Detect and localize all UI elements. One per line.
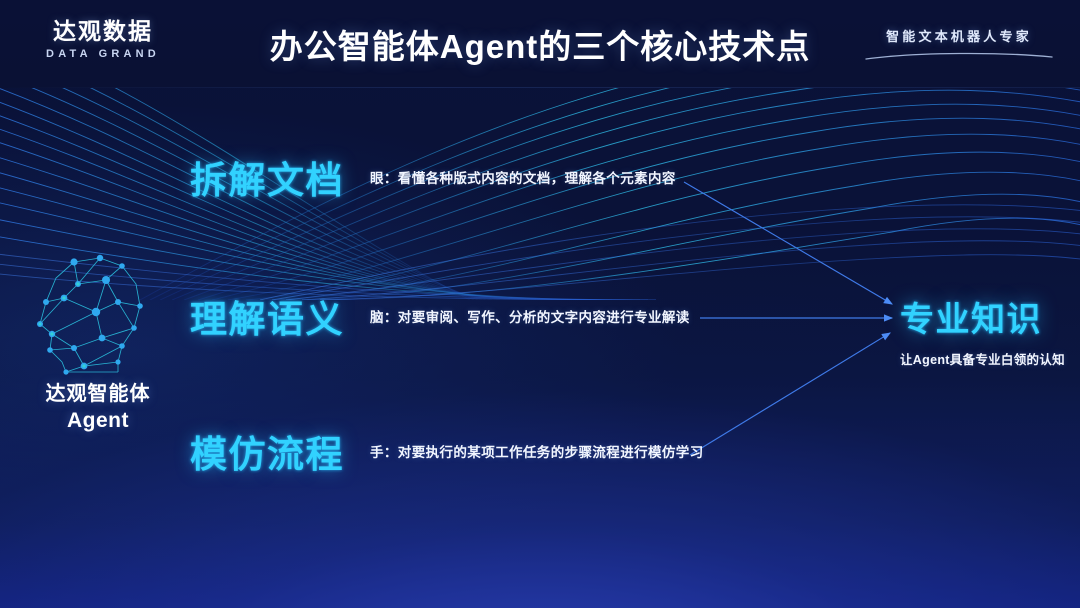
agent-figure: 达观智能体 Agent: [18, 250, 178, 434]
slide-header: 达观数据 DATA GRAND 办公智能体Agent的三个核心技术点 智能文本机…: [0, 0, 1080, 88]
capability-title-1: 拆解文档: [190, 150, 344, 204]
slide-canvas: 达观数据 DATA GRAND 办公智能体Agent的三个核心技术点 智能文本机…: [0, 0, 1080, 608]
capability-row-3: 模仿流程 手：对要执行的某项工作任务的步骤流程进行模仿学习: [190, 424, 704, 478]
capability-title-3: 模仿流程: [190, 424, 344, 478]
agent-label-en: Agent: [18, 408, 178, 435]
agent-label-cn: 达观智能体: [46, 383, 151, 405]
capability-row-1: 拆解文档 眼：看懂各种版式内容的文档，理解各个元素内容: [190, 150, 676, 204]
outcome-node: 专业知识 让Agent具备专业白领的认知: [900, 292, 1080, 368]
arrow-row-3: [690, 333, 890, 455]
brand-tagline: 智能文本机器人专家: [862, 26, 1056, 45]
agent-label: 达观智能体 Agent: [18, 382, 178, 434]
arrow-row-1: [684, 182, 892, 304]
brand-tagline-block: 智能文本机器人专家: [862, 26, 1056, 62]
capability-desc-1: 眼：看懂各种版式内容的文档，理解各个元素内容: [370, 167, 676, 187]
outcome-title: 专业知识: [900, 292, 1080, 341]
outcome-subtitle: 让Agent具备专业白领的认知: [900, 349, 1080, 368]
capability-desc-3: 手：对要执行的某项工作任务的步骤流程进行模仿学习: [370, 441, 704, 461]
capability-desc-2: 脑：对要审阅、写作、分析的文字内容进行专业解读: [370, 306, 690, 326]
tagline-underline-swoosh: [862, 50, 1056, 62]
capability-row-2: 理解语义 脑：对要审阅、写作、分析的文字内容进行专业解读: [190, 289, 690, 343]
capability-title-2: 理解语义: [190, 289, 344, 343]
network-head-icon: [18, 250, 178, 376]
